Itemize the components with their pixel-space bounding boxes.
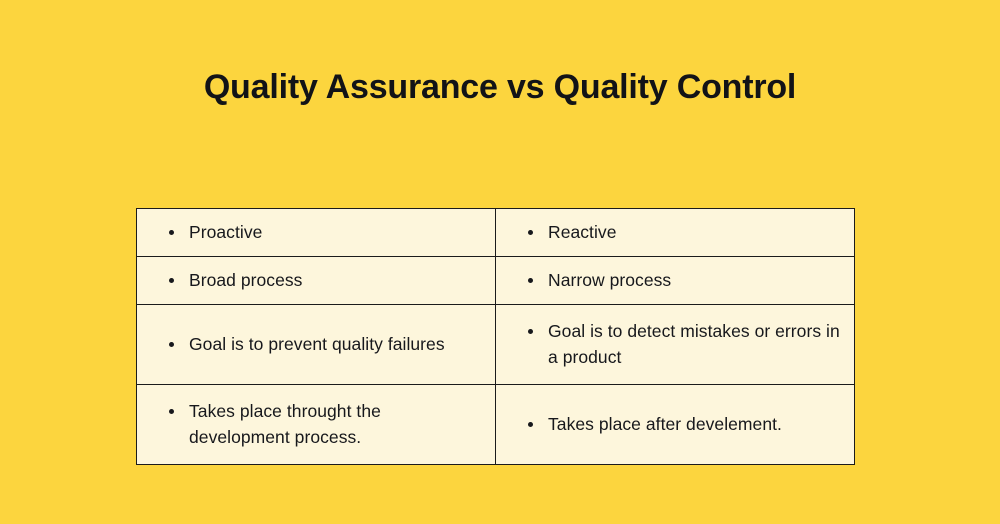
list-item-label: Proactive	[189, 222, 262, 242]
list-item-label: Narrow process	[548, 270, 671, 290]
bullet-list: Reactive	[512, 219, 840, 245]
cell-content: Reactive	[496, 209, 854, 256]
list-item-label: Broad process	[189, 270, 303, 290]
table-cell-right: Goal is to detect mistakes or errors in …	[496, 305, 855, 385]
slide-canvas: Quality Assurance vs Quality Control Pro…	[0, 0, 1000, 524]
list-item: Narrow process	[512, 267, 840, 293]
list-item-label: Reactive	[548, 222, 617, 242]
bullet-dot-icon	[169, 342, 174, 347]
list-item-label: Takes place throught the development pro…	[189, 401, 381, 447]
table-cell-left: Proactive	[137, 209, 496, 257]
list-item: Takes place throught the development pro…	[153, 398, 481, 450]
bullet-list: Goal is to detect mistakes or errors in …	[512, 318, 840, 370]
table-row: Proactive Reactive	[137, 209, 855, 257]
table-cell-left: Goal is to prevent quality failures	[137, 305, 496, 385]
bullet-dot-icon	[169, 409, 174, 414]
cell-content: Proactive	[137, 209, 495, 256]
list-item: Proactive	[153, 219, 481, 245]
bullet-dot-icon	[169, 230, 174, 235]
list-item: Reactive	[512, 219, 840, 245]
bullet-dot-icon	[528, 422, 533, 427]
list-item: Goal is to prevent quality failures	[153, 331, 481, 357]
comparison-table: Proactive Reactive	[136, 208, 855, 465]
cell-content: Broad process	[137, 257, 495, 304]
bullet-dot-icon	[169, 278, 174, 283]
bullet-list: Narrow process	[512, 267, 840, 293]
table-cell-right: Reactive	[496, 209, 855, 257]
list-item-label: Takes place after develement.	[548, 414, 782, 434]
table-row: Broad process Narrow process	[137, 257, 855, 305]
table-cell-right: Takes place after develement.	[496, 385, 855, 465]
table-row: Takes place throught the development pro…	[137, 385, 855, 465]
list-item-label: Goal is to prevent quality failures	[189, 334, 445, 354]
bullet-list: Takes place throught the development pro…	[153, 398, 481, 450]
table-cell-left: Takes place throught the development pro…	[137, 385, 496, 465]
table-row: Goal is to prevent quality failures Goal…	[137, 305, 855, 385]
cell-content: Takes place throught the development pro…	[137, 385, 495, 464]
bullet-list: Broad process	[153, 267, 481, 293]
list-item-label: Goal is to detect mistakes or errors in …	[548, 321, 840, 367]
cell-content: Takes place after develement.	[496, 398, 854, 451]
table-cell-left: Broad process	[137, 257, 496, 305]
bullet-list: Proactive	[153, 219, 481, 245]
bullet-list: Goal is to prevent quality failures	[153, 331, 481, 357]
list-item: Broad process	[153, 267, 481, 293]
bullet-dot-icon	[528, 230, 533, 235]
list-item: Goal is to detect mistakes or errors in …	[512, 318, 840, 370]
cell-content: Goal is to prevent quality failures	[137, 318, 495, 371]
bullet-list: Takes place after develement.	[512, 411, 840, 437]
cell-content: Goal is to detect mistakes or errors in …	[496, 305, 854, 384]
bullet-dot-icon	[528, 278, 533, 283]
list-item: Takes place after develement.	[512, 411, 840, 437]
cell-content: Narrow process	[496, 257, 854, 304]
bullet-dot-icon	[528, 329, 533, 334]
table-body: Proactive Reactive	[137, 209, 855, 465]
page-title: Quality Assurance vs Quality Control	[0, 64, 1000, 110]
table-cell-right: Narrow process	[496, 257, 855, 305]
